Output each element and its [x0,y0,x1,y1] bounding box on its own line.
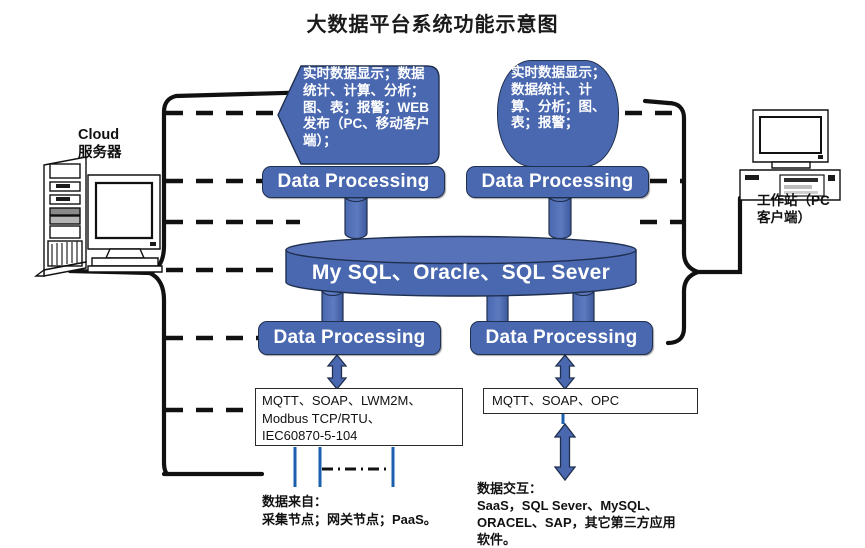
protocol-left-line-2: Modbus TCP/RTU、 [262,410,462,428]
data-processing-bottom-right[interactable]: Data Processing [470,321,653,355]
data-processing-top-left[interactable]: Data Processing [262,166,445,198]
callout-left-text: 实时数据显示；数据统计、计算、分析；图、表；报警；WEB发布（PC、移动客户端）… [303,66,436,150]
data-exchange-line1: 数据交互： [477,480,732,497]
protocol-right-line-1: MQTT、SOAP、OPC [492,391,697,411]
data-processing-top-right[interactable]: Data Processing [466,166,649,198]
protocol-box-left: MQTT、SOAP、LWM2M、 Modbus TCP/RTU、 IEC6087… [255,388,463,446]
data-processing-bottom-left[interactable]: Data Processing [258,321,441,355]
cloud-server-icon [36,157,162,276]
double-arrow-right [556,355,574,389]
cloud-server-label-line2: 服务器 [78,144,168,162]
page-title: 大数据平台系统功能示意图 [0,8,865,37]
diagram-canvas: 大数据平台系统功能示意图 [0,0,865,548]
data-source-line1: 数据来自： [262,493,502,511]
workstation-label-line2: 客户端） [757,209,862,226]
data-exchange-line2: SaaS，SQL Sever、MySQL、 [477,497,732,514]
workstation-label: 工作站（PC 客户端） [757,192,862,226]
cloud-server-label: Cloud 服务器 [78,126,168,162]
data-source-line2: 采集节点；网关节点；PaaS。 [262,511,502,529]
data-source-annotation: 数据来自： 采集节点；网关节点；PaaS。 [262,493,502,528]
callout-right-text: 实时数据显示；数据统计、计算、分析；图、表；报警； [511,65,607,132]
data-exchange-line3: ORACEL、SAP，其它第三方应用 [477,514,732,531]
double-arrow-data-exchange [555,424,575,480]
database-label: My SQL、Oracle、SQL Sever [285,256,637,286]
workstation-label-line1: 工作站（PC [757,192,862,209]
callout-right: 实时数据显示；数据统计、计算、分析；图、表；报警； [497,60,617,165]
cloud-server-label-line1: Cloud [78,126,168,144]
data-exchange-line4: 软件。 [477,531,732,548]
protocol-left-line-3: IEC60870-5-104 [262,427,462,445]
data-exchange-annotation: 数据交互： SaaS，SQL Sever、MySQL、 ORACEL、SAP，其… [477,480,732,548]
protocol-left-line-1: MQTT、SOAP、LWM2M、 [262,392,462,410]
callout-left: 实时数据显示；数据统计、计算、分析；图、表；报警；WEB发布（PC、移动客户端）… [277,60,440,165]
right-brace [645,101,740,343]
double-arrow-left [328,355,346,389]
protocol-box-right: MQTT、SOAP、OPC [483,388,698,414]
workstation-icon [740,110,840,200]
